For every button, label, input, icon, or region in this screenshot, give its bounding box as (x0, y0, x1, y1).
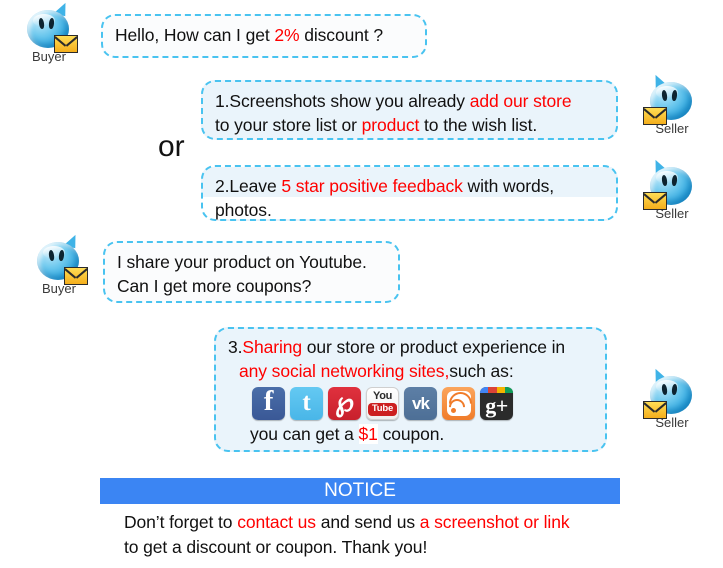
notice-text-part: to get a discount or coupon. Thank you! (124, 537, 427, 557)
avatar-art (645, 372, 699, 418)
message-text-part: such as: (449, 361, 513, 381)
message-text-part: our store or product experience in (302, 337, 565, 357)
twitter-glyph: t (290, 387, 323, 420)
message-highlight-add-store: add our store (470, 91, 572, 111)
pinterest-glyph: ℘ (328, 387, 361, 420)
notice-title: NOTICE (324, 480, 396, 501)
notice-text-part: Don’t forget to (124, 512, 237, 532)
coupon-line: you can get a $1 coupon. (250, 422, 595, 446)
message-text-part: discount ? (299, 25, 383, 45)
notice-highlight-contact-us: contact us (237, 512, 316, 532)
message-text-part: you can get a (250, 424, 359, 444)
chat-bubble-seller-1: 1.Screenshots show you already add our s… (201, 80, 618, 140)
message-highlight-discount: 2% (274, 25, 299, 45)
avatar-seller-2: Seller (641, 163, 703, 220)
envelope-icon (643, 401, 667, 419)
avatar-buyer-1: Buyer (18, 6, 80, 63)
notice-highlight-screenshot: a screenshot or link (420, 512, 570, 532)
message-highlight-sharing: Sharing (242, 337, 302, 357)
avatar-art (645, 78, 699, 124)
avatar-buyer-2: Buyer (28, 238, 90, 295)
notice-body: Don’t forget to contact us and send us a… (124, 510, 644, 560)
envelope-icon (643, 192, 667, 210)
message-highlight-social-sites: any social networking sites, (239, 361, 449, 381)
social-icon-row: f t ℘ You Tube vk (252, 387, 595, 420)
avatar-seller-3: Seller (641, 372, 703, 429)
facebook-icon[interactable]: f (252, 387, 285, 420)
message-text-part: to your store list or (215, 115, 362, 135)
message-highlight-product: product (362, 115, 420, 135)
youtube-icon[interactable]: You Tube (366, 387, 399, 420)
avatar-art (22, 6, 76, 52)
avatar-art (645, 163, 699, 209)
message-text-part: photos. (215, 200, 272, 220)
envelope-icon (643, 107, 667, 125)
google-plus-glyph: g+ (480, 387, 513, 420)
message-highlight-feedback: 5 star positive feedback (281, 176, 462, 196)
twitter-icon[interactable]: t (290, 387, 323, 420)
chat-bubble-buyer-1: Hello, How can I get 2% discount ? (101, 14, 427, 58)
or-connector-label: or (158, 132, 185, 162)
message-text-part: 3. (228, 337, 242, 357)
chat-bubble-buyer-2: I share your product on Youtube. Can I g… (103, 241, 400, 303)
message-text-part: Hello, How can I get (115, 25, 274, 45)
avatar-seller-1: Seller (641, 78, 703, 135)
envelope-icon (64, 267, 88, 285)
message-text-part: to the wish list. (419, 115, 537, 135)
blogger-rss-icon[interactable] (442, 387, 475, 420)
message-text-part: I share your product on Youtube. (117, 252, 367, 272)
google-plus-icon[interactable]: g+ (480, 387, 513, 420)
chat-bubble-seller-2: 2.Leave 5 star positive feedback with wo… (201, 165, 618, 221)
youtube-tube-text: Tube (368, 403, 397, 417)
message-text-part: coupon. (378, 424, 444, 444)
notice-text-part: and send us (316, 512, 420, 532)
message-text-part: Can I get more coupons? (117, 276, 311, 296)
message-text-part: with words, (463, 176, 554, 196)
vk-glyph: vk (404, 387, 437, 420)
youtube-you-text: You (373, 391, 392, 402)
envelope-icon (54, 35, 78, 53)
notice-title-bar: NOTICE (100, 478, 620, 504)
chat-bubble-seller-3: 3.Sharing our store or product experienc… (214, 327, 607, 452)
facebook-glyph: f (252, 387, 285, 420)
avatar-art (32, 238, 86, 284)
message-text-part: 2.Leave (215, 176, 281, 196)
message-highlight-coupon-value: $1 (359, 424, 378, 444)
youtube-wordmark: You Tube (367, 388, 398, 419)
vk-icon[interactable]: vk (404, 387, 437, 420)
pinterest-icon[interactable]: ℘ (328, 387, 361, 420)
message-text-part: 1.Screenshots show you already (215, 91, 470, 111)
